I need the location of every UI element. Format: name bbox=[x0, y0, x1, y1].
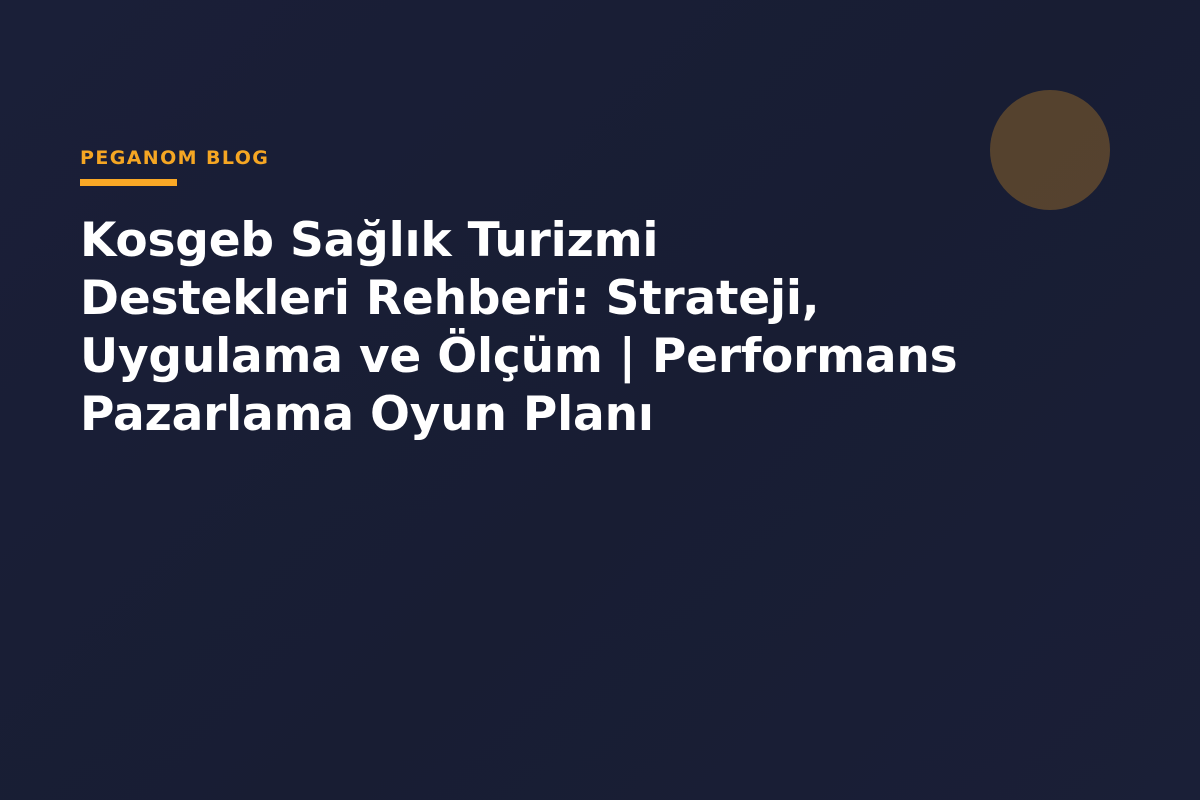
headline-line-2: Destekleri Rehberi: Strateji, bbox=[80, 270, 1070, 328]
headline-line-1: Kosgeb Sağlık Turizmi bbox=[80, 212, 1070, 270]
page-title: Kosgeb Sağlık Turizmi Destekleri Rehberi… bbox=[80, 212, 1070, 444]
eyebrow: PEGANOM BLOG bbox=[80, 146, 269, 186]
footer: peganom.com Sağlık Turizmi Ajansı bbox=[0, 680, 1200, 800]
headline-line-4: Pazarlama Oyun Planı bbox=[80, 386, 1070, 444]
headline-line-3: Uygulama ve Ölçüm | Performans bbox=[80, 328, 1070, 386]
accent-circle-icon bbox=[990, 90, 1110, 210]
eyebrow-label: PEGANOM BLOG bbox=[80, 146, 269, 170]
social-share-card: PEGANOM BLOG Kosgeb Sağlık Turizmi Deste… bbox=[0, 0, 1200, 800]
eyebrow-rule bbox=[80, 179, 177, 186]
